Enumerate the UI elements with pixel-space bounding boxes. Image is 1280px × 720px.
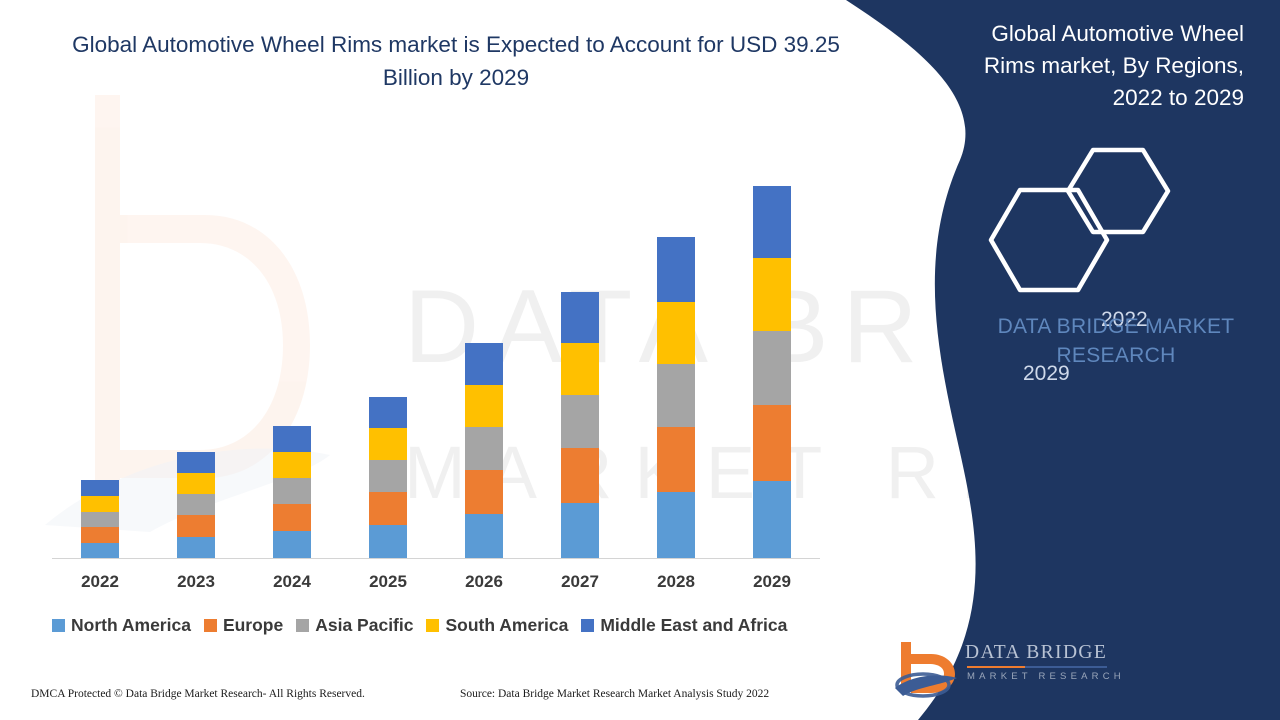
- legend-label: Middle East and Africa: [600, 615, 787, 636]
- segment-north-america: [465, 514, 503, 559]
- segment-europe: [657, 427, 695, 492]
- infographic-canvas: DATA BRIDGE MARKET RESEARCH Global Autom…: [0, 0, 1280, 720]
- plot-area: [52, 150, 820, 559]
- segment-europe: [561, 448, 599, 503]
- legend-swatch-icon: [296, 619, 309, 632]
- segment-asia-pacific: [177, 494, 215, 515]
- segment-europe: [273, 504, 311, 531]
- bar-2029[interactable]: [753, 186, 791, 559]
- segment-asia-pacific: [369, 460, 407, 492]
- segment-middle-east-and-africa: [561, 292, 599, 343]
- hexagon-outline-icons: [975, 142, 1185, 302]
- data-bridge-logo: DATA BRIDGE MARKET RESEARCH: [893, 638, 1108, 700]
- panel-brand-line-1: DATA BRIDGE MARKET: [960, 312, 1272, 341]
- x-axis-label-2028: 2028: [628, 572, 724, 592]
- segment-north-america: [657, 492, 695, 559]
- bar-2024[interactable]: [273, 426, 311, 559]
- segment-south-america: [81, 496, 119, 512]
- x-axis-label-2025: 2025: [340, 572, 436, 592]
- segment-middle-east-and-africa: [753, 186, 791, 258]
- x-axis-label-2024: 2024: [244, 572, 340, 592]
- segment-middle-east-and-africa: [465, 343, 503, 385]
- source-note: Source: Data Bridge Market Research Mark…: [460, 688, 769, 700]
- panel-brand-name: DATA BRIDGE MARKET RESEARCH: [960, 312, 1272, 370]
- segment-asia-pacific: [465, 427, 503, 470]
- segment-europe: [753, 405, 791, 481]
- segment-north-america: [753, 481, 791, 559]
- segment-south-america: [369, 428, 407, 460]
- bar-2026[interactable]: [465, 343, 503, 559]
- bar-2028[interactable]: [657, 237, 695, 559]
- legend-swatch-icon: [426, 619, 439, 632]
- segment-middle-east-and-africa: [273, 426, 311, 452]
- segment-asia-pacific: [273, 478, 311, 504]
- logo-wordmark: DATA BRIDGE: [965, 642, 1107, 664]
- segment-north-america: [81, 543, 119, 559]
- segment-south-america: [177, 473, 215, 494]
- legend-swatch-icon: [52, 619, 65, 632]
- segment-europe: [81, 527, 119, 543]
- segment-europe: [177, 515, 215, 537]
- segment-asia-pacific: [561, 395, 599, 448]
- x-axis-label-2023: 2023: [148, 572, 244, 592]
- hexagon-2022-icon: [1068, 150, 1168, 232]
- segment-asia-pacific: [657, 364, 695, 427]
- segment-asia-pacific: [81, 512, 119, 527]
- x-axis-label-2027: 2027: [532, 572, 628, 592]
- segment-asia-pacific: [753, 331, 791, 405]
- bar-2022[interactable]: [81, 480, 119, 559]
- legend-label: Asia Pacific: [315, 615, 413, 636]
- legend-item-asia-pacific[interactable]: Asia Pacific: [296, 615, 413, 636]
- chart-legend: North America Europe Asia Pacific South …: [52, 615, 832, 636]
- x-axis-label-2022: 2022: [52, 572, 148, 592]
- legend-item-north-america[interactable]: North America: [52, 615, 191, 636]
- hexagon-2029-icon: [991, 190, 1107, 290]
- logo-tagline: MARKET RESEARCH: [967, 671, 1125, 682]
- bar-2023[interactable]: [177, 452, 215, 559]
- logo-divider: [967, 666, 1107, 669]
- segment-south-america: [753, 258, 791, 331]
- segment-north-america: [177, 537, 215, 559]
- segment-north-america: [369, 525, 407, 559]
- panel-heading: Global Automotive Wheel Rims market, By …: [944, 18, 1244, 114]
- x-axis-label-2029: 2029: [724, 572, 820, 592]
- legend-item-middle-east-and-africa[interactable]: Middle East and Africa: [581, 615, 787, 636]
- data-bridge-b-mark-icon: [893, 638, 963, 698]
- legend-label: North America: [71, 615, 191, 636]
- bar-2025[interactable]: [369, 397, 407, 559]
- legend-item-south-america[interactable]: South America: [426, 615, 568, 636]
- segment-south-america: [465, 385, 503, 427]
- bar-2027[interactable]: [561, 292, 599, 559]
- legend-label: South America: [445, 615, 568, 636]
- segment-south-america: [561, 343, 599, 395]
- segment-south-america: [273, 452, 311, 478]
- segment-europe: [369, 492, 407, 525]
- x-axis-label-2026: 2026: [436, 572, 532, 592]
- x-axis-line: [52, 558, 820, 559]
- segment-middle-east-and-africa: [177, 452, 215, 473]
- segment-middle-east-and-africa: [81, 480, 119, 496]
- copyright-notice: DMCA Protected © Data Bridge Market Rese…: [31, 688, 365, 700]
- legend-item-europe[interactable]: Europe: [204, 615, 283, 636]
- hexagon-badges: 2029 2022: [975, 142, 1185, 302]
- stacked-bar-chart: 2022 2023 2024 2025 2026 2027 2028 2029 …: [0, 0, 860, 620]
- legend-label: Europe: [223, 615, 283, 636]
- segment-north-america: [561, 503, 599, 559]
- legend-swatch-icon: [204, 619, 217, 632]
- x-axis-labels: 2022 2023 2024 2025 2026 2027 2028 2029: [52, 572, 820, 598]
- segment-europe: [465, 470, 503, 514]
- legend-swatch-icon: [581, 619, 594, 632]
- segment-south-america: [657, 302, 695, 364]
- panel-brand-line-2: RESEARCH: [960, 341, 1272, 370]
- segment-middle-east-and-africa: [369, 397, 407, 428]
- segment-north-america: [273, 531, 311, 559]
- segment-middle-east-and-africa: [657, 237, 695, 302]
